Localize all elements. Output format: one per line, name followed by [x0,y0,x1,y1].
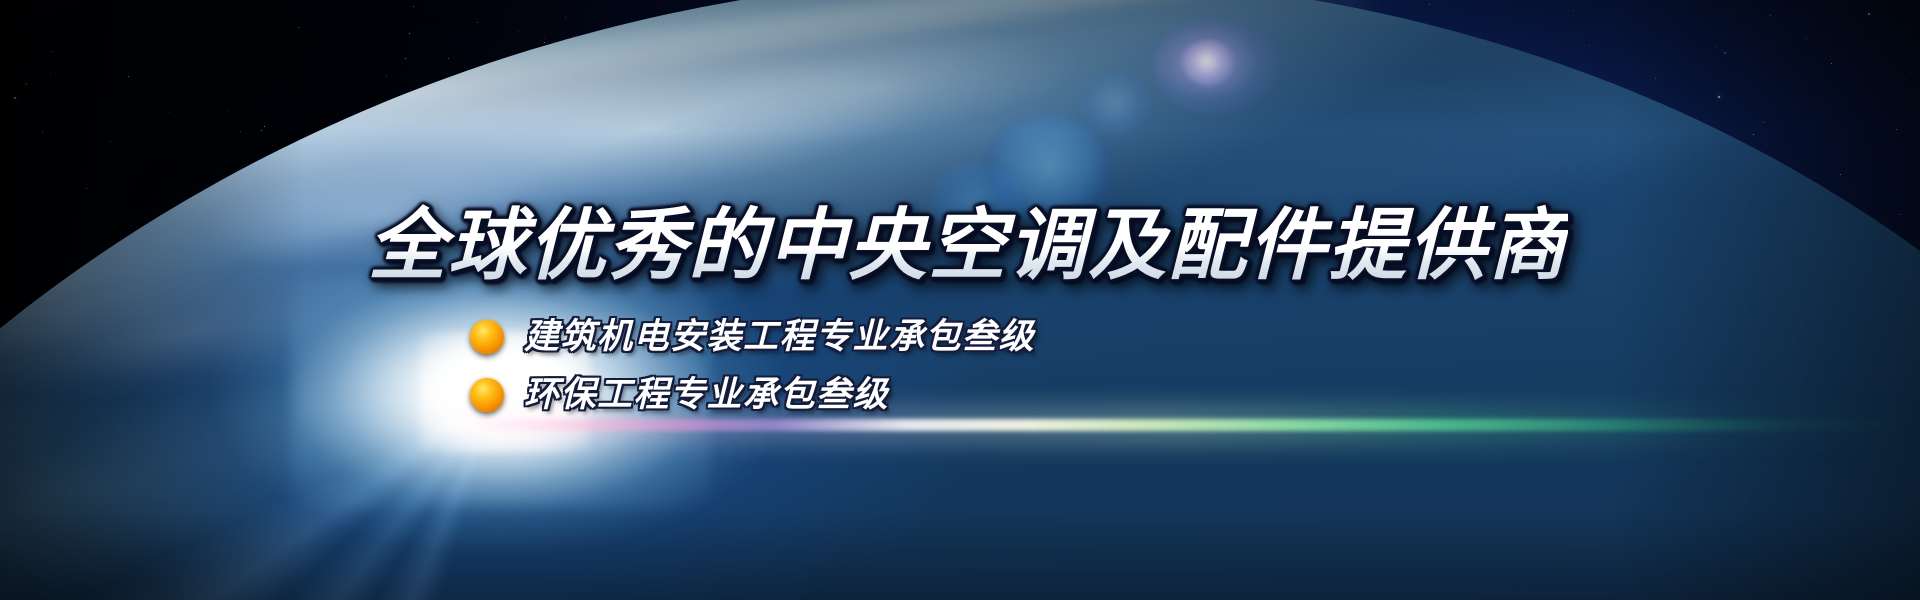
bullet-label-2: 环保工程专业承包叁级 [524,373,889,417]
bullet-item-1: 建筑机电安装工程专业承包叁级 [470,310,1035,364]
banner-bullet-list: 建筑机电安装工程专业承包叁级 环保工程专业承包叁级 [470,310,1035,424]
bullet-dot-icon [470,320,504,354]
bullet-label-1: 建筑机电安装工程专业承包叁级 [524,315,1035,359]
banner-content: 全球优秀的中央空调及配件提供商 建筑机电安装工程专业承包叁级 环保工程专业承包叁… [0,0,1920,600]
bullet-item-2: 环保工程专业承包叁级 [470,368,1035,422]
hero-banner: 全球优秀的中央空调及配件提供商 建筑机电安装工程专业承包叁级 环保工程专业承包叁… [0,0,1920,600]
bullet-dot-icon [470,378,504,412]
banner-headline: 全球优秀的中央空调及配件提供商 [368,203,1568,289]
